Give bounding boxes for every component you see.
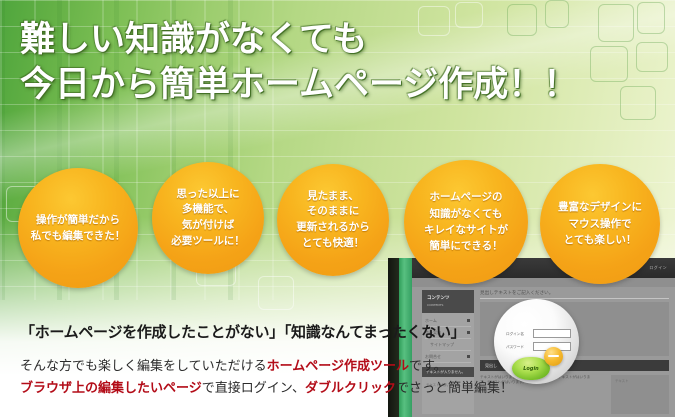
- mock-aside-text: テキスト: [615, 378, 628, 383]
- login-submit-label: Login: [512, 366, 550, 372]
- deco-square: [258, 276, 294, 310]
- mock-sidebar-subtitle: CONTENTS: [427, 303, 443, 307]
- badge-rich-design: 豊富なデザインに マウス操作で とても楽しい！: [540, 164, 660, 284]
- bottom-line-2-highlight: ホームページ作成ツール: [267, 359, 409, 374]
- mock-section-label: 見出し: [485, 363, 497, 369]
- mock-sidebar-item-sitemap[interactable]: サイトマップ: [430, 342, 471, 351]
- mock-sidebar-title: コンテンツ: [427, 295, 450, 301]
- bullet-icon: [467, 319, 470, 322]
- bottom-line-3-b: でさっと簡単編集！: [396, 381, 513, 396]
- login-id-label: ログイン名: [506, 332, 524, 337]
- login-minimize-button[interactable]: [544, 347, 563, 366]
- bottom-quote: 「ホームページを作成したことがない」「知識なんてまったくない」: [20, 321, 465, 342]
- login-password-label: パスワード: [506, 345, 524, 350]
- mock-divider: [480, 298, 669, 299]
- mock-aside-placeholder: テキスト: [611, 375, 669, 414]
- minus-icon: [548, 355, 559, 357]
- headline-line-2: 今日から簡単ホームページ作成！！: [20, 65, 578, 105]
- bottom-line-3-a: で直接ログイン、: [202, 381, 305, 396]
- bottom-line-2-b: です。: [409, 359, 447, 374]
- promo-banner: 難しい知識がなくても今日から簡単ホームページ作成！！ ログイン コンテンツ CO…: [0, 0, 675, 417]
- bullet-icon: [467, 355, 470, 358]
- badge-no-knowledge: ホームページの 知識がなくても キレイなサイトが 簡単にできる！: [404, 160, 528, 284]
- mock-sidebar-header: コンテンツ CONTENTS: [422, 290, 474, 313]
- mock-main-heading: 見出しテキストをご記入ください。: [480, 290, 553, 296]
- bullet-icon: [467, 331, 470, 334]
- badge-wysiwyg: 見たまま、 そのままに 更新されるから とても快適！: [277, 164, 389, 276]
- bottom-line-3-highlight-2: ダブルクリック: [305, 381, 396, 396]
- badge-easy-operation: 操作が簡単だから 私でも編集できた！: [18, 168, 138, 288]
- login-id-input[interactable]: [533, 329, 571, 338]
- bottom-line-3: ブラウザ上の編集したいページで直接ログイン、ダブルクリックでさっと簡単編集！: [20, 377, 513, 396]
- headline: 難しい知識がなくても今日から簡単ホームページ作成！！: [20, 18, 660, 108]
- bottom-line-2-a: そんな方でも楽しく編集をしていただける: [20, 359, 267, 374]
- headline-line-1: 難しい知識がなくても: [20, 20, 367, 60]
- mock-sidebar-label: サイトマップ: [430, 342, 454, 347]
- login-sphere-overlay: ログイン名 パスワード Login: [494, 299, 579, 384]
- bottom-line-3-highlight-1: ブラウザ上の編集したいページ: [20, 381, 202, 396]
- badge-multifunction: 思った以上に 多機能で、 気が付けば 必要ツールに！: [152, 162, 264, 274]
- bottom-line-2: そんな方でも楽しく編集をしていただけるホームページ作成ツールです。: [20, 355, 447, 374]
- mock-login-link[interactable]: ログイン: [649, 265, 667, 271]
